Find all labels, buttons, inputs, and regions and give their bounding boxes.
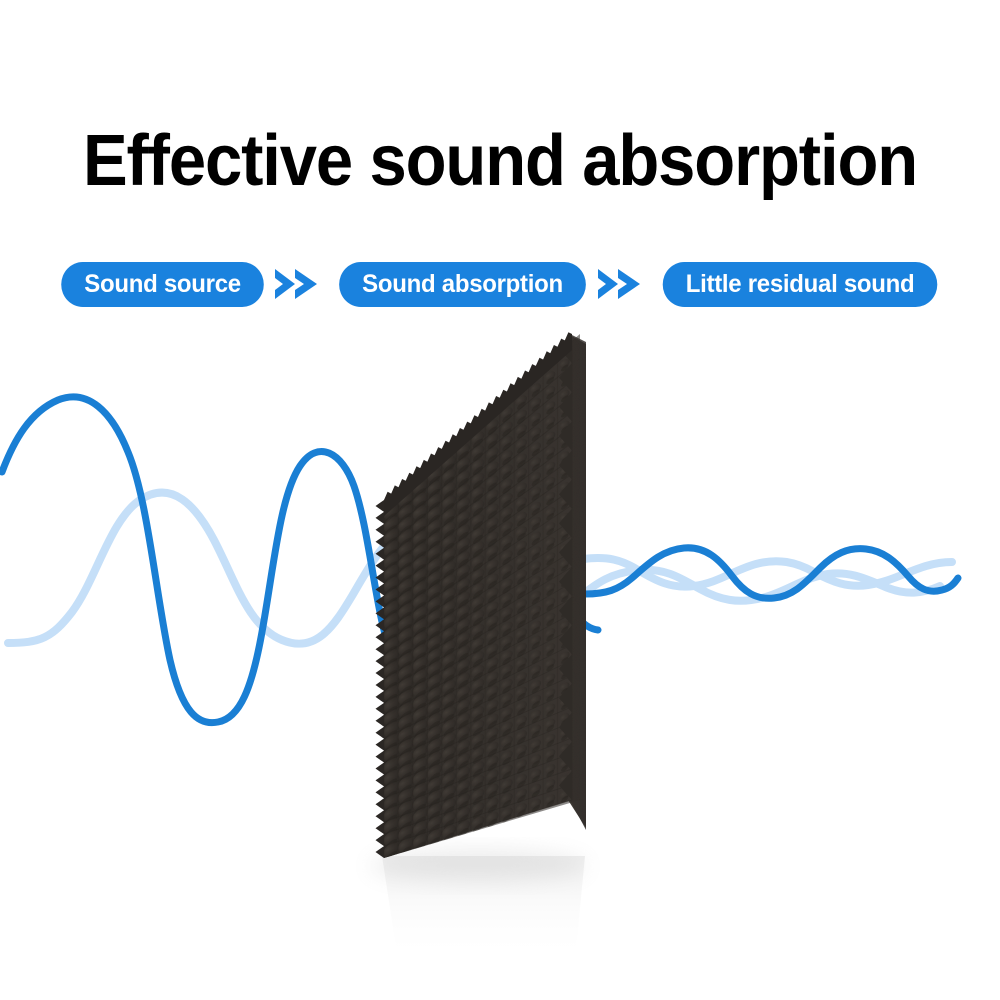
page-title: Effective sound absorption bbox=[35, 118, 965, 204]
acoustic-foam-panel bbox=[358, 330, 602, 890]
flow-step-sound-absorption[interactable]: Sound absorption bbox=[339, 262, 586, 307]
flow-step-label: Sound source bbox=[84, 270, 241, 299]
infographic-canvas: Effective sound absorption Sound source … bbox=[0, 0, 1000, 1000]
flow-step-label: Sound absorption bbox=[362, 270, 563, 299]
process-flow: Sound source Sound absorption Little res… bbox=[0, 258, 1000, 310]
flow-step-label: Little residual sound bbox=[686, 270, 915, 299]
double-chevron-right-icon bbox=[268, 267, 334, 301]
foam-panel-left-serration bbox=[376, 500, 385, 858]
flow-step-little-residual-sound[interactable]: Little residual sound bbox=[663, 262, 938, 307]
flow-step-sound-source[interactable]: Sound source bbox=[61, 262, 264, 307]
double-chevron-right-icon bbox=[591, 267, 657, 301]
